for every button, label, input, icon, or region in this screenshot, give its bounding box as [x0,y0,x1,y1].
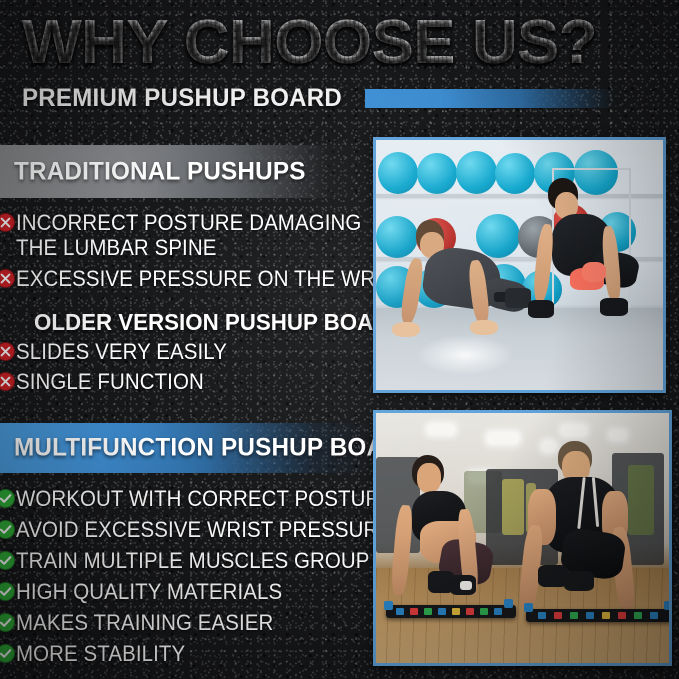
list-item-label: SINGLE FUNCTION [16,369,204,394]
list-item-label: INCORRECT POSTURE DAMAGING THE LUMBAR SP… [16,210,361,260]
x-circle-icon [0,342,15,361]
banner-multifunction-label: MULTIFUNCTION PUSHUP BOARD [14,436,420,461]
list-item: AVOID EXCESSIVE WRIST PRESSURE [0,517,423,542]
accent-bar [365,89,615,108]
pushup-board-handle [384,601,393,610]
list-item-label: HIGH QUALITY MATERIALS [16,579,282,604]
pushup-board-handle [504,599,513,608]
list-item-label: TRAIN MULTIPLE MUSCLES GROUP [16,548,370,573]
pushup-board-handle [524,603,533,612]
list-item: EXCESSIVE PRESSURE ON THE WRIST [0,266,437,291]
check-circle-icon [0,613,15,632]
list-item: HIGH QUALITY MATERIALS [0,579,423,604]
x-circle-icon [0,213,15,232]
page-title: WHY CHOOSE US? WHY CHOOSE US? [22,12,597,74]
list-item-label: AVOID EXCESSIVE WRIST PRESSURE [16,517,392,542]
pushup-board-right [526,609,669,622]
list-traditional-pushups: INCORRECT POSTURE DAMAGING THE LUMBAR SP… [0,210,437,295]
check-circle-icon [0,520,15,539]
subheading-older-version: OLDER VERSION PUSHUP BOARDS [34,311,420,334]
header: WHY CHOOSE US? WHY CHOOSE US? PREMIUM PU… [0,0,679,130]
subtitle-row: PREMIUM PUSHUP BOARD [22,86,615,111]
list-item: WORKOUT WITH CORRECT POSTURE [0,486,423,511]
banner-traditional-pushups: TRADITIONAL PUSHUPS [0,145,371,198]
list-item: MAKES TRAINING EASIER [0,610,423,635]
list-item-label: MORE STABILITY [16,641,185,666]
list-item-label: SLIDES VERY EASILY [16,339,227,364]
list-item: TRAIN MULTIPLE MUSCLES GROUP [0,548,423,573]
list-item: SINGLE FUNCTION [0,369,243,394]
list-item: INCORRECT POSTURE DAMAGING THE LUMBAR SP… [0,210,437,260]
pushup-board-handle [664,601,669,610]
list-item-label: WORKOUT WITH CORRECT POSTURE [16,486,394,511]
list-multifunction-benefits: WORKOUT WITH CORRECT POSTURE AVOID EXCES… [0,486,423,672]
x-circle-icon [0,269,15,288]
list-older-version-boards: SLIDES VERY EASILY SINGLE FUNCTION [0,339,243,398]
banner-multifunction-pushup-board: MULTIFUNCTION PUSHUP BOARD [0,423,371,473]
photo-traditional-pushups [373,137,666,393]
list-item-label: EXCESSIVE PRESSURE ON THE WRIST [16,266,407,291]
page-subtitle: PREMIUM PUSHUP BOARD [22,86,342,111]
list-item: SLIDES VERY EASILY [0,339,243,364]
check-circle-icon [0,582,15,601]
check-circle-icon [0,551,15,570]
list-item-label: MAKES TRAINING EASIER [16,610,273,635]
poster-canvas: WHY CHOOSE US? WHY CHOOSE US? PREMIUM PU… [0,0,679,679]
check-circle-icon [0,489,15,508]
banner-traditional-label: TRADITIONAL PUSHUPS [14,159,306,184]
photo-multifunction-pushup-board [373,410,672,666]
list-item: MORE STABILITY [0,641,423,666]
x-circle-icon [0,372,15,391]
pushup-board-left [386,605,516,618]
check-circle-icon [0,644,15,663]
page-title-grunge-overlay: WHY CHOOSE US? [22,12,597,74]
